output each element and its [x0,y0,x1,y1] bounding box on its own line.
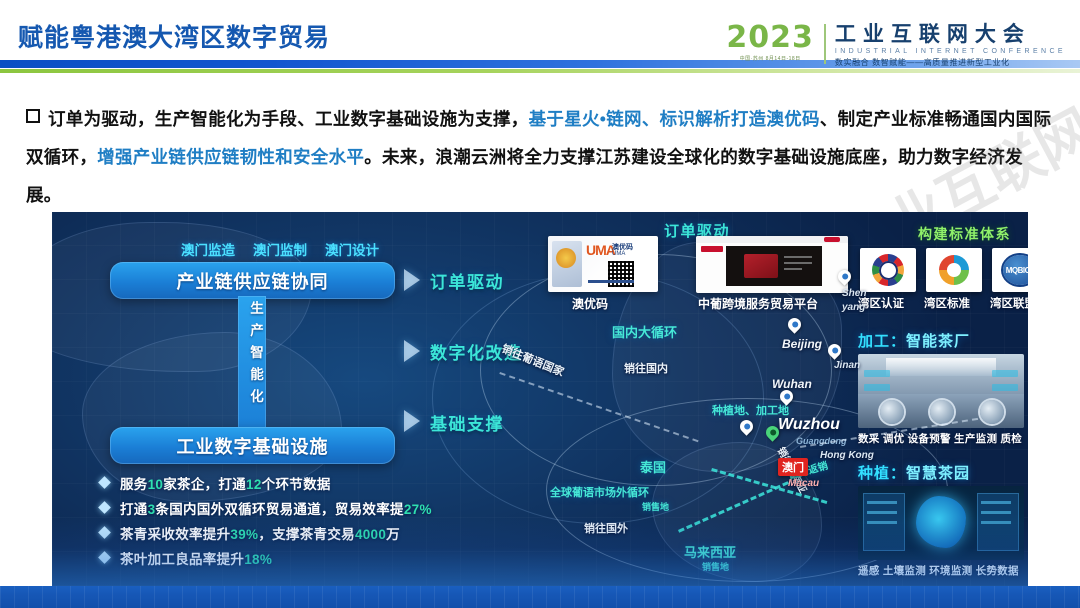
arrow-right-icon [404,340,420,362]
paragraph-highlight-2: 增强产业链供应链韧性和安全水平 [97,147,364,167]
macau-tags: 澳门监造 澳门监制 澳门设计 [130,239,430,259]
factory-hud-tag [992,384,1018,391]
portal-topbar [696,236,848,243]
smart-farm-title: 种植：智慧茶园 [858,462,1024,483]
logo-cn-name: 工业互联网大会 [835,24,1066,46]
gear-seal-icon [872,254,904,286]
uma-caption: 澳优码 [572,295,608,312]
bay-alliance-caption: 湾区联盟 [990,295,1028,311]
bullet-0-post: 个环节数据 [262,477,331,492]
farm-data-line [981,501,1011,504]
smart-factory-title: 加工：智能茶厂 [858,330,1024,351]
mid-label-infra-support: 基础支撑 [430,410,504,435]
macau-tag-0: 澳门监造 [181,239,235,259]
uma-barline [588,280,634,283]
bullet-0-pre: 服务 [120,477,148,492]
smart-factory-image [858,354,1024,428]
bullet-1-mid: 条国内国外双循环贸易通道，贸易效率提 [155,502,403,517]
logo-en-name: INDUSTRIAL INTERNET CONFERENCE [835,48,1066,55]
portal-line [784,256,812,258]
portal-hero-image [726,246,822,286]
portal-left-pill [701,246,723,252]
chain-collab-block: 产业链供应链协同 [110,262,395,299]
portal-line [784,268,802,270]
bay-standard-caption: 湾区标准 [924,295,970,311]
smart-farm-title-prefix: 种植： [858,465,906,482]
page-title: 赋能粤港澳大湾区数字贸易 [18,18,330,54]
uma-logo-text: UMA [586,242,615,258]
map-marker-macau: 澳门 [778,458,808,476]
map-pin-icon [828,344,841,360]
mid-label-order-driven: 订单驱动 [430,268,504,293]
map-pin-icon [780,390,793,406]
factory-hud-tag [864,370,890,377]
portal-line [784,262,812,264]
factory-hud-tag [992,370,1018,377]
logo-tagline: 数实融合 数智赋能——高质量推进新型工业化 [835,57,1066,68]
bullet-1-pre: 打通 [120,502,148,517]
farm-data-line [867,511,897,514]
mqbicl-abbr: MQBICL [1006,266,1028,275]
smart-factory-title-prefix: 加工： [858,333,906,350]
body-paragraph: 订单为驱动，生产智能化为手段、工业数字基础设施为支撑，基于星火•链网、标识解析打… [26,100,1056,214]
paragraph-highlight-1: 基于星火•链网、标识解析打造澳优码 [529,109,820,129]
factory-ceiling [886,358,996,376]
bullet-0-mid: 家茶企，打通 [163,477,246,492]
factory-hud-tag [864,384,890,391]
logo-year: 2023 [726,24,814,52]
map-pin-green-icon [766,426,779,442]
smart-factory-title-main: 智能茶厂 [906,333,970,350]
logo-year-subtitle: 中国·苏州 8月14日-18日 [740,55,801,62]
qr-code-icon [608,261,634,287]
list-item: 服务10家茶企，打通12个环节数据 [100,470,520,495]
main-figure: 澳门监造 澳门监制 澳门设计 产业链供应链协同 生产智能化 工业数字基础设施 订… [52,212,1028,586]
smart-farm-title-main: 智慧茶园 [906,465,970,482]
slide-bottom-band [0,586,1080,608]
logo-year-block: 2023 中国·苏州 8月14日-18日 [726,24,824,62]
bay-standard-card [926,248,982,292]
farm-data-line [981,511,1011,514]
figure-bottom-glow [52,516,1028,586]
bullet-0-n1: 10 [148,477,164,492]
bay-certification-caption: 湾区认证 [858,295,904,311]
portal-red-pill [824,237,840,242]
diamond-bullet-icon [98,501,111,514]
bullet-0-n2: 12 [246,477,262,492]
logo-name-block: 工业互联网大会 INDUSTRIAL INTERNET CONFERENCE 数… [835,24,1066,68]
paragraph-seg-1: 订单为驱动，生产智能化为手段、工业数字基础设施为支撑， [48,109,529,129]
uma-en-text: UMA [612,251,625,257]
factory-tank [930,400,954,424]
uma-code-screenshot: UMA 澳优码 UMA [548,236,658,292]
arrow-right-icon [404,269,420,291]
farm-data-line [867,501,897,504]
portal-product-box [744,254,778,278]
bay-certification-card [860,248,916,292]
map-pin-icon [838,270,851,286]
bay-alliance-card: MQBICL [992,248,1028,292]
pillar-label: 生产智能化 [247,298,267,408]
conference-logo: 2023 中国·苏州 8月14日-18日 工业互联网大会 INDUSTRIAL … [726,24,1066,70]
globe-mqbicl-icon: MQBICL [1003,255,1028,285]
logo-divider [824,24,826,64]
diamond-bullet-icon [98,476,111,489]
four-color-ring-icon [939,255,969,285]
digital-infra-block: 工业数字基础设施 [110,427,395,464]
smart-factory-panel: 加工：智能茶厂 数采 调优 设备预警 生产监测 质检 [858,330,1024,446]
macau-tag-2: 澳门设计 [325,239,379,259]
map-pin-icon [788,318,801,334]
portal-caption: 中葡跨境服务贸易平台 [698,295,818,312]
mid-label-digital-transform: 数字化改造 [430,339,523,364]
arrow-right-icon [404,410,420,432]
bullet-1-n2: 27% [404,502,432,517]
cross-border-portal-screenshot [696,236,848,293]
factory-tank [880,400,904,424]
uma-seal-icon [556,248,576,268]
macau-tag-1: 澳门监制 [253,239,307,259]
map-pin-icon [740,420,753,436]
factory-tank [980,400,1004,424]
standards-heading: 构建标准体系 [918,224,1011,244]
bullet-square-icon [26,109,40,123]
